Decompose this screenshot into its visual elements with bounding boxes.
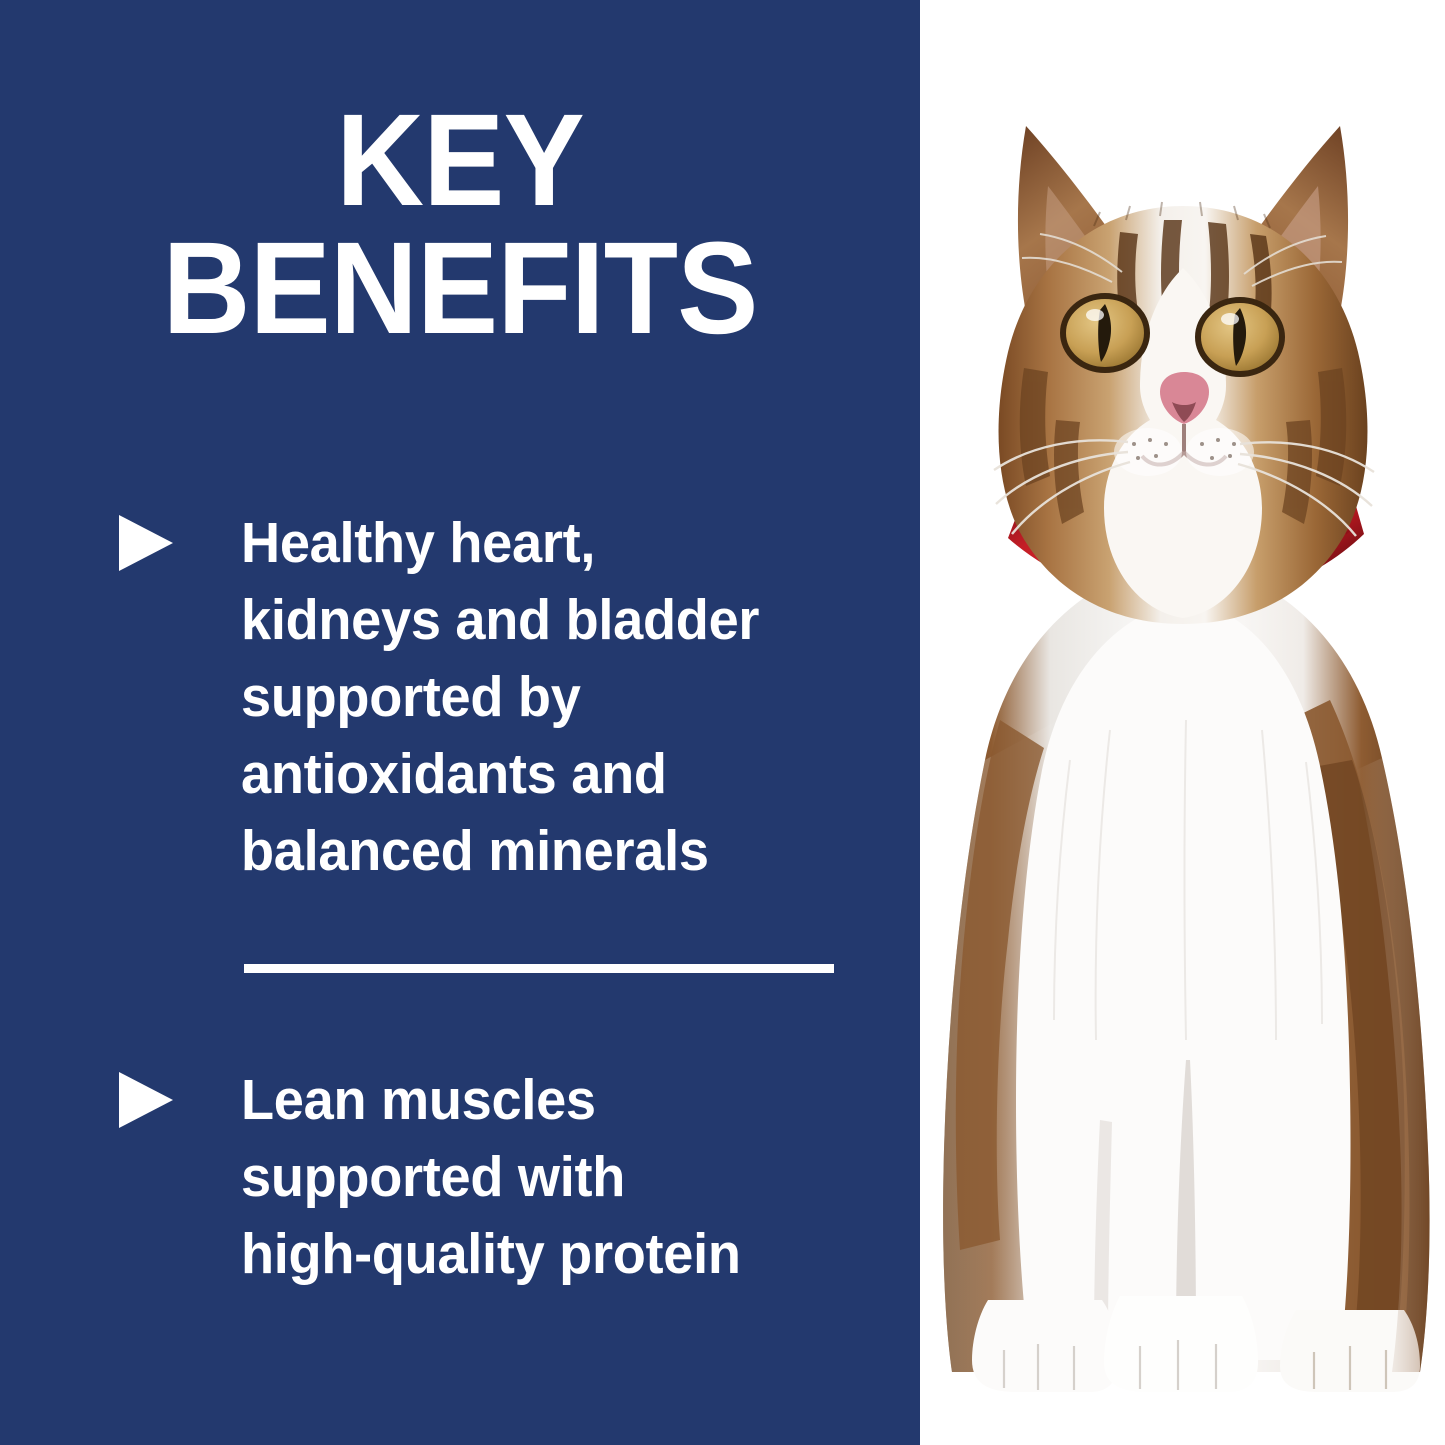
- key-benefits-panel: KEY BENEFITS Healthy heart, kidneys and …: [0, 0, 1445, 1445]
- cat-photo: [920, 0, 1445, 1445]
- benefit-item-2: Lean muscles supported with high-quality…: [113, 1062, 873, 1293]
- triangle-right-icon: [113, 1062, 169, 1122]
- benefit-item-1: Healthy heart, kidneys and bladder suppo…: [113, 505, 873, 890]
- benefit-item-2-label: Lean muscles supported with high-quality…: [241, 1062, 741, 1293]
- cat-illustration: [920, 0, 1445, 1445]
- triangle-right-icon: [113, 505, 169, 565]
- page-title-line-1: KEY: [88, 96, 832, 224]
- page-title: KEY BENEFITS: [88, 96, 832, 353]
- benefit-item-1-label: Healthy heart, kidneys and bladder suppo…: [241, 505, 759, 890]
- page-title-line-2: BENEFITS: [88, 224, 832, 352]
- section-divider: [244, 964, 834, 973]
